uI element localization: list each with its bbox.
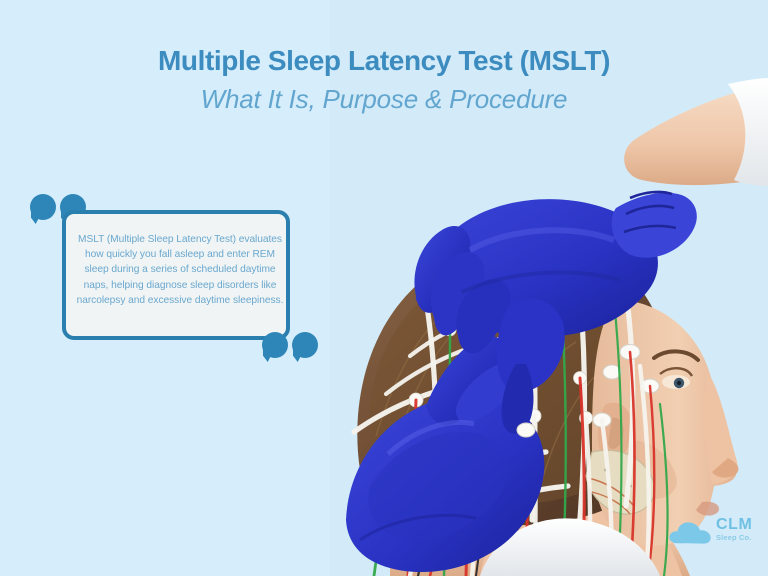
quote-text: MSLT (Multiple Sleep Latency Test) evalu…	[74, 232, 286, 308]
cloud-icon	[668, 518, 712, 546]
heading-block: Multiple Sleep Latency Test (MSLT) What …	[0, 44, 768, 116]
logo-tagline: Sleep Co.	[716, 533, 766, 543]
quote-card: MSLT (Multiple Sleep Latency Test) evalu…	[62, 210, 290, 340]
page-subtitle: What It Is, Purpose & Procedure	[0, 82, 768, 116]
poster-canvas: Multiple Sleep Latency Test (MSLT) What …	[0, 0, 768, 576]
logo-wordmark: CLM Sleep Co.	[716, 516, 766, 543]
page-title: Multiple Sleep Latency Test (MSLT)	[0, 44, 768, 78]
close-quote-mark-icon	[262, 332, 320, 374]
logo-name: CLM	[716, 516, 766, 533]
brand-logo[interactable]: CLM Sleep Co.	[668, 512, 764, 554]
